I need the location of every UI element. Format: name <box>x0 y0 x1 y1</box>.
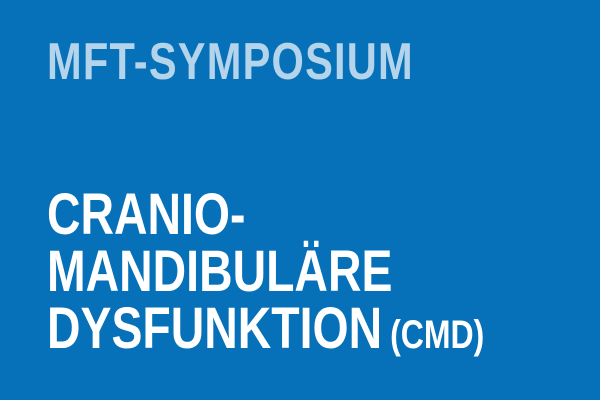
poster-slide: MFT-SYMPOSIUM CRANIO- MANDIBULÄRE DYSFUN… <box>0 0 600 400</box>
headline-line-3-main: DYSFUNKTION <box>47 296 382 361</box>
headline-line-3: DYSFUNKTION(CMD) <box>47 300 484 364</box>
headline-line-2: MANDIBULÄRE <box>47 243 484 300</box>
eyebrow-text: MFT-SYMPOSIUM <box>47 36 414 88</box>
headline-block: CRANIO- MANDIBULÄRE DYSFUNKTION(CMD) <box>47 186 484 364</box>
headline-abbreviation: (CMD) <box>382 313 484 357</box>
headline-line-1: CRANIO- <box>47 186 484 243</box>
